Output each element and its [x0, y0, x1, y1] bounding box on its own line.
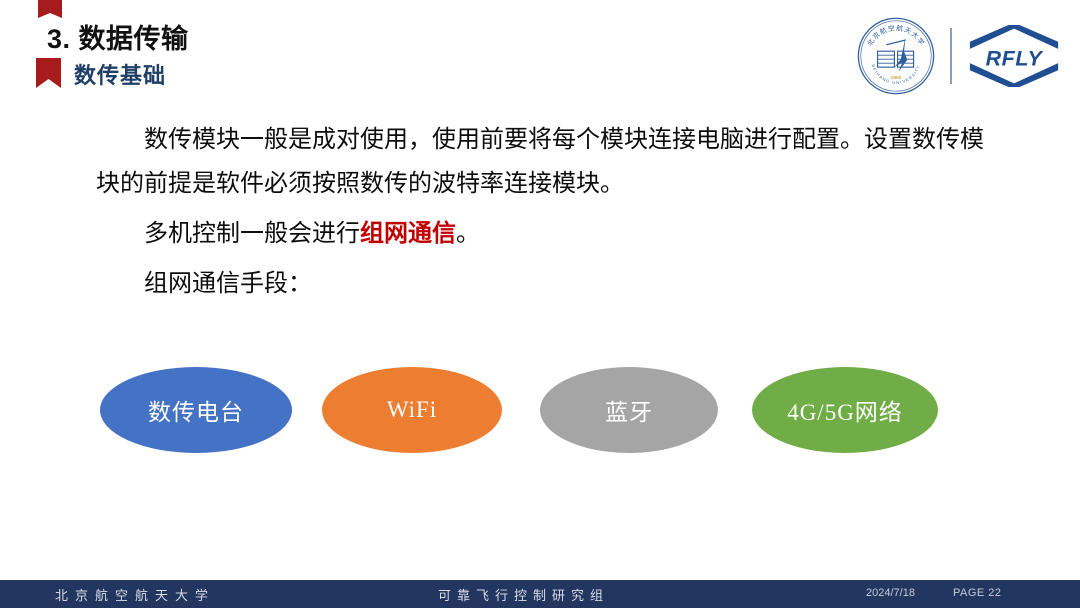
highlighted-term: 组网通信	[360, 221, 456, 247]
paragraph-2-text-after: 。	[456, 221, 480, 247]
ellipse-label-1: WiFi	[387, 397, 437, 423]
page-subtitle: 数传基础	[74, 58, 166, 90]
ellipse-label-2: 蓝牙	[605, 393, 653, 427]
slide: 3. 数据传输 数传基础 北京航空航天大学 BEIHANG UNIVERSITY	[0, 0, 1080, 608]
ellipse-label-3: 4G/5G网络	[787, 393, 903, 427]
paragraph-2: 多机控制一般会进行组网通信。	[96, 212, 986, 256]
svg-text:RFLY: RFLY	[986, 47, 1044, 71]
footer-university-name: 北京航空航天大学	[55, 585, 215, 604]
ellipse-label-0: 数传电台	[148, 393, 244, 427]
body-content: 数传模块一般是成对使用，使用前要将每个模块连接电脑进行配置。设置数传模块的前提是…	[96, 118, 986, 306]
logo-divider	[950, 28, 952, 84]
page-title: 3. 数据传输	[47, 17, 189, 56]
ellipse-shape-cellular: 4G/5G网络	[752, 367, 938, 453]
ellipse-shape-datalink-radio: 数传电台	[100, 367, 292, 453]
bookmark-marker-icon-subtitle	[36, 58, 61, 88]
footer-date: 2024/7/18	[866, 587, 915, 599]
beihang-university-seal-icon: 北京航空航天大学 BEIHANG UNIVERSITY 1982	[856, 16, 936, 96]
logo-group: 北京航空航天大学 BEIHANG UNIVERSITY 1982 RFLY	[856, 16, 1062, 96]
paragraph-3: 组网通信手段：	[96, 262, 986, 306]
paragraph-2-text-before: 多机控制一般会进行	[144, 221, 360, 247]
slide-header: 3. 数据传输 数传基础 北京航空航天大学 BEIHANG UNIVERSITY	[0, 0, 1080, 108]
rfly-hexagon-logo-icon: RFLY	[966, 25, 1062, 87]
svg-text:北京航空航天大学: 北京航空航天大学	[866, 23, 927, 47]
network-methods-diagram: 数传电台 WiFi 蓝牙 4G/5G网络	[100, 367, 956, 455]
slide-footer: 北京航空航天大学 可靠飞行控制研究组 2024/7/18 PAGE 22	[0, 580, 1080, 608]
ellipse-shape-bluetooth: 蓝牙	[540, 367, 718, 453]
paragraph-1: 数传模块一般是成对使用，使用前要将每个模块连接电脑进行配置。设置数传模块的前提是…	[96, 118, 986, 206]
footer-research-group: 可靠飞行控制研究组	[438, 585, 609, 604]
svg-text:1982: 1982	[891, 75, 902, 81]
bookmark-marker-icon-top	[38, 0, 62, 18]
footer-page-number: PAGE 22	[953, 587, 1002, 599]
ellipse-shape-wifi: WiFi	[322, 367, 502, 453]
